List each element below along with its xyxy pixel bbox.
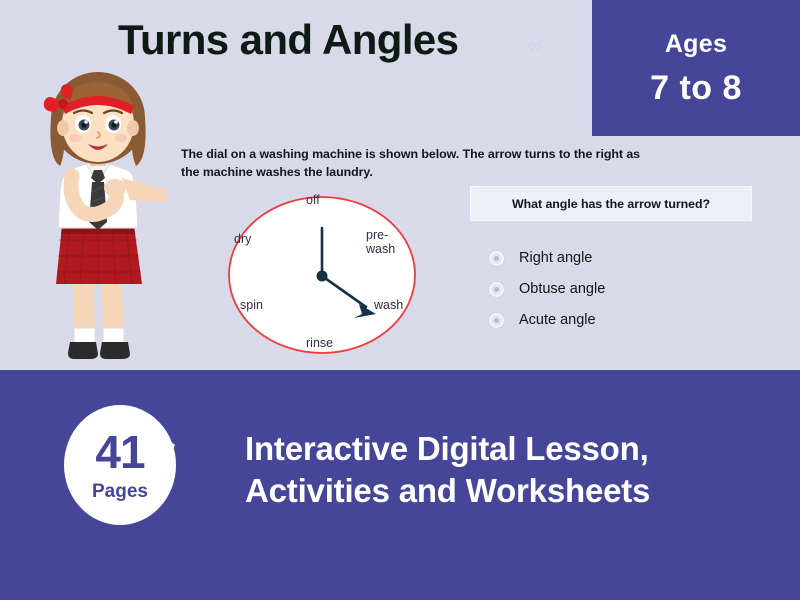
answer-options-list: Right angle Obtuse angle Acute angle — [488, 243, 738, 336]
page-count-badge: 41 Pages — [58, 392, 182, 538]
dial-label-spin: spin — [240, 298, 263, 312]
radio-button-icon[interactable] — [488, 250, 505, 267]
radio-button-icon[interactable] — [488, 281, 505, 298]
schoolgirl-illustration — [18, 66, 168, 364]
banner-description-line1: Interactive Digital Lesson, — [245, 428, 790, 470]
dial-label-off: off — [306, 193, 320, 207]
title-watermark-icon: ∞ — [528, 36, 542, 56]
page-count-word: Pages — [58, 482, 182, 501]
ages-panel: Ages 7 to 8 — [592, 0, 800, 136]
product-cover-page: Turns and Angles ∞ Ages 7 to 8 — [0, 0, 800, 600]
question-box: What angle has the arrow turned? — [470, 186, 752, 221]
dial-label-dry: dry — [234, 232, 251, 246]
page-count-number: 41 — [58, 429, 182, 475]
washing-machine-dial-diagram: off pre-wash wash rinse spin dry — [222, 190, 426, 360]
answer-option-right-angle[interactable]: Right angle — [488, 243, 738, 273]
dial-label-wash: wash — [374, 298, 403, 312]
question-text: What angle has the arrow turned? — [512, 197, 710, 211]
answer-option-label: Right angle — [519, 251, 592, 266]
answer-option-acute-angle[interactable]: Acute angle — [488, 305, 738, 335]
dial-graphic — [222, 190, 426, 360]
ages-label: Ages — [665, 32, 727, 57]
answer-option-label: Acute angle — [519, 313, 596, 328]
ages-value: 7 to 8 — [650, 71, 742, 105]
page-title: Turns and Angles — [118, 16, 458, 64]
answer-option-obtuse-angle[interactable]: Obtuse angle — [488, 274, 738, 304]
radio-button-icon[interactable] — [488, 312, 505, 329]
banner-description: Interactive Digital Lesson, Activities a… — [245, 428, 790, 512]
dial-label-pre-wash: pre-wash — [366, 228, 395, 257]
answer-option-label: Obtuse angle — [519, 282, 605, 297]
banner-description-line2: Activities and Worksheets — [245, 470, 790, 512]
dial-label-rinse: rinse — [306, 336, 333, 350]
instruction-text: The dial on a washing machine is shown b… — [181, 146, 647, 181]
